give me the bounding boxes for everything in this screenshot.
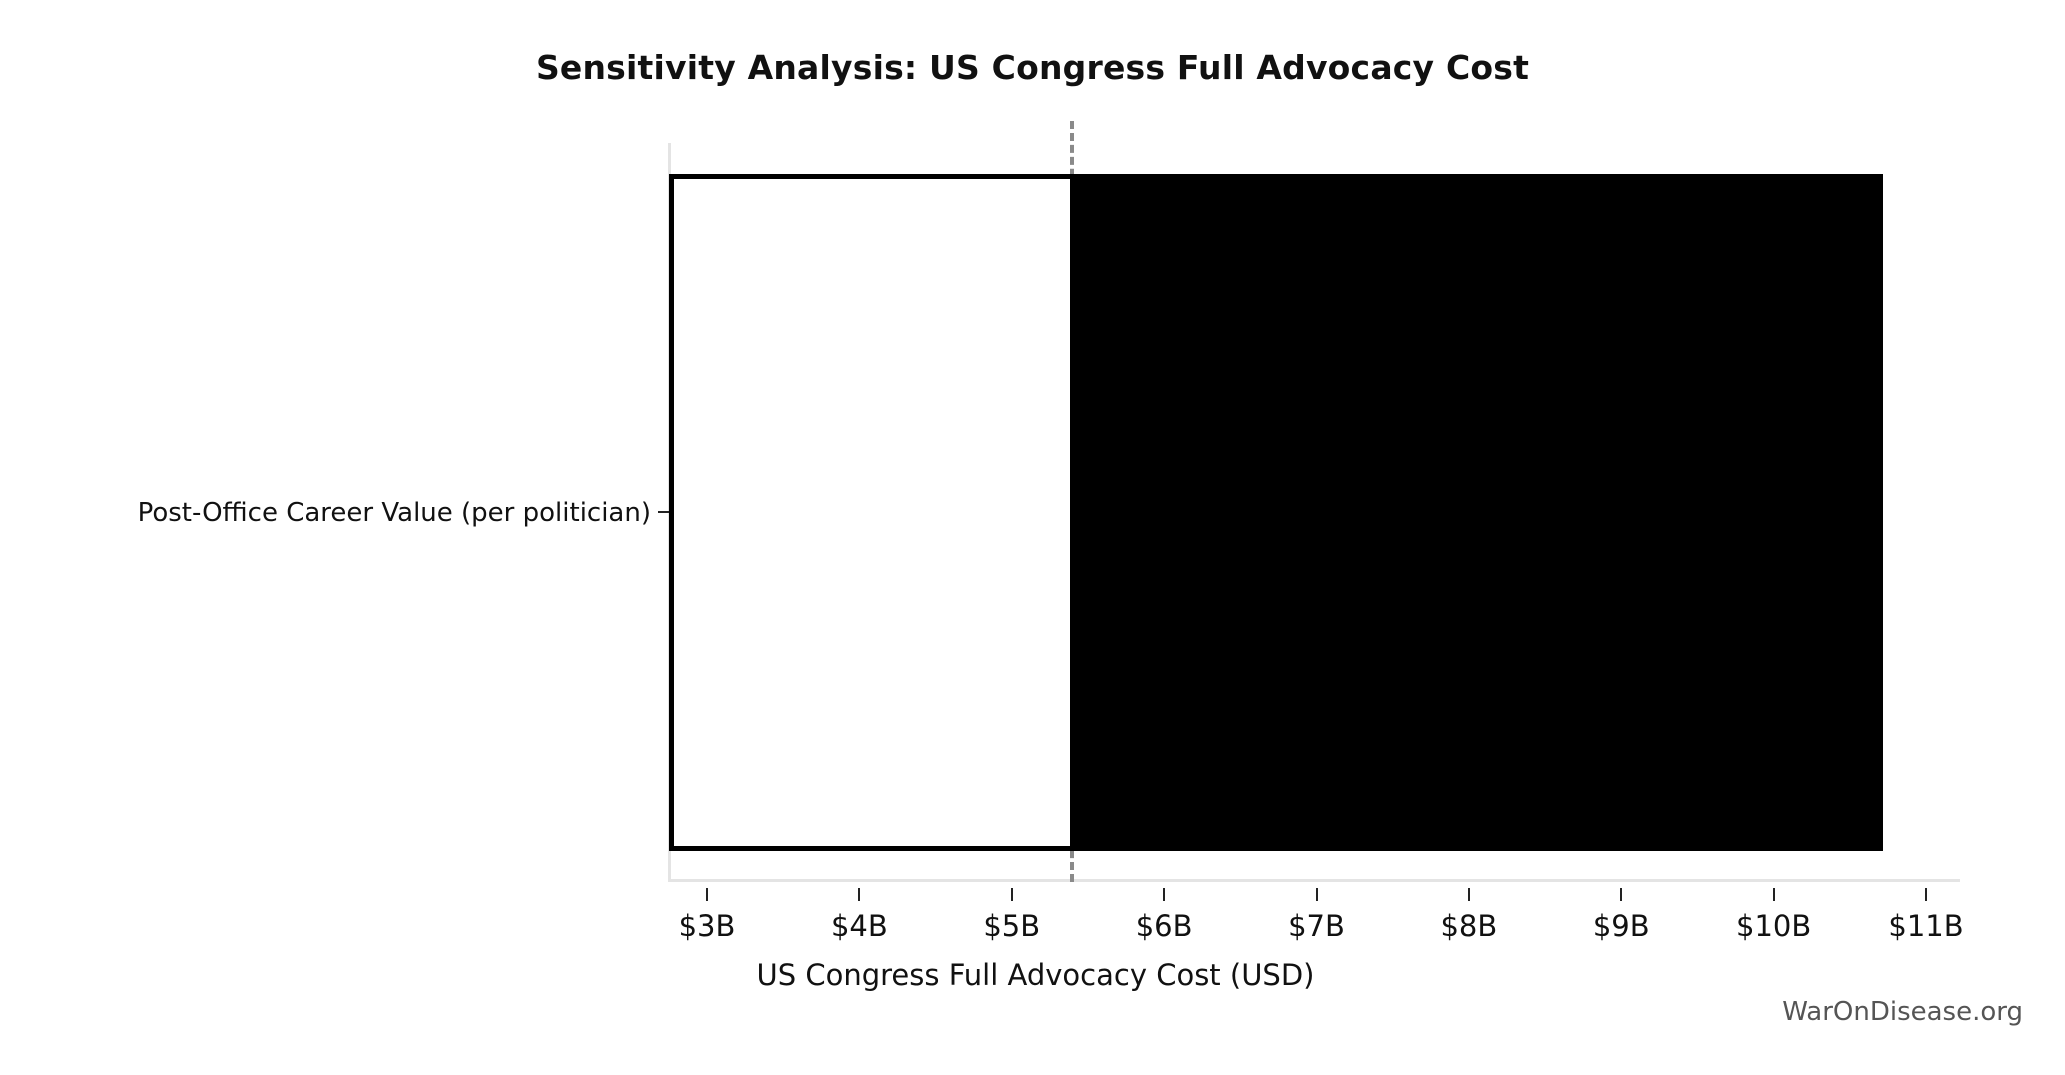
x-axis-tick-mark	[1468, 888, 1470, 901]
bar-high-segment[interactable]	[1070, 174, 1884, 851]
x-axis-tick-mark	[706, 888, 708, 901]
page-title: Sensitivity Analysis: US Congress Full A…	[0, 48, 2065, 87]
x-axis-label: US Congress Full Advocacy Cost (USD)	[0, 958, 2065, 992]
x-axis-tick-mark	[1925, 888, 1927, 901]
tornado-bar[interactable]	[669, 174, 1883, 851]
x-axis-tick-label: $8B	[1440, 909, 1497, 943]
x-axis-tick-label: $9B	[1593, 909, 1650, 943]
x-axis-tick-label: $5B	[983, 909, 1040, 943]
x-axis-tick-label: $10B	[1736, 909, 1811, 943]
x-axis-tick-mark	[1163, 888, 1165, 901]
y-axis-tick-label: Post-Office Career Value (per politician…	[138, 498, 651, 528]
bar-low-segment[interactable]	[669, 174, 1070, 851]
y-axis-tick-mark	[658, 511, 669, 513]
x-axis-tick-mark	[1316, 888, 1318, 901]
x-axis-spine	[668, 879, 1960, 882]
x-axis-tick-label: $7B	[1288, 909, 1345, 943]
x-axis-tick-label: $3B	[679, 909, 736, 943]
x-axis-tick-mark	[1011, 888, 1013, 901]
x-axis-tick-mark	[858, 888, 860, 901]
x-axis-tick-label: $4B	[831, 909, 888, 943]
x-axis-tick-label: $11B	[1888, 909, 1963, 943]
x-axis-tick-label: $6B	[1136, 909, 1193, 943]
plot-area	[668, 143, 1960, 882]
x-axis-tick-mark	[1773, 888, 1775, 901]
x-axis-tick-mark	[1620, 888, 1622, 901]
chart-figure: Sensitivity Analysis: US Congress Full A…	[0, 0, 2065, 1075]
watermark: WarOnDisease.org	[1782, 997, 2023, 1027]
